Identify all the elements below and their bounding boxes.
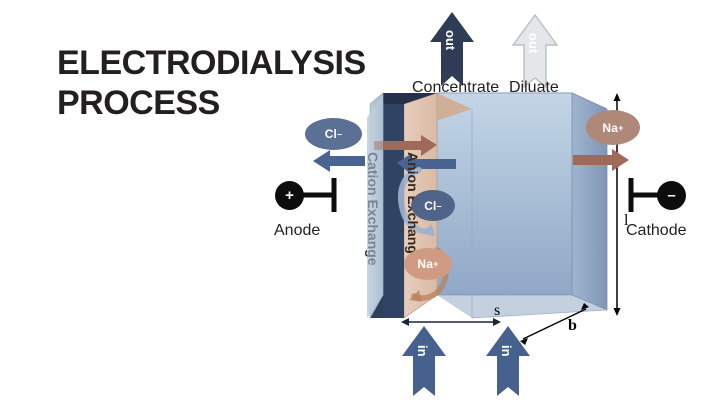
anion-migration-arrow-outer [313, 150, 365, 172]
cathode-label: Cathode [626, 222, 687, 240]
feed-left-arrow-text: in [415, 345, 430, 357]
cation-exchange-label: Cation Exchange [365, 152, 381, 266]
sodium-ion-outer-name: Na [602, 121, 618, 135]
cathode-sign: – [667, 188, 675, 203]
concentrate-arrow-text: out [443, 30, 458, 50]
sodium-ion-inner-name: Na [417, 257, 433, 271]
dimension-s [401, 318, 501, 326]
dimension-label-l: l [624, 212, 628, 230]
diluate-label: Diluate [509, 79, 559, 97]
concentrate-label: Concentrate [412, 79, 499, 97]
anode-label: Anode [274, 222, 320, 240]
anode-terminal: + [275, 181, 304, 210]
diagram-graphics [0, 0, 720, 404]
anode-sign: + [285, 188, 294, 203]
dimension-label-s: s [494, 302, 500, 320]
dimension-label-b: b [568, 317, 577, 335]
chloride-ion-inner: Cl– [411, 190, 455, 221]
diluate-arrow-text: out [526, 33, 541, 53]
feed-in-arrow-right [486, 326, 530, 396]
feed-right-arrow-text: in [499, 345, 514, 357]
chloride-ion-inner-name: Cl [424, 199, 436, 213]
sodium-ion-inner: Na+ [404, 248, 452, 280]
chloride-ion-outer: Cl– [305, 118, 362, 150]
feed-in-arrow-left [402, 326, 446, 396]
electrodialysis-diagram: ELECTRODIALYSIS PROCESS [0, 0, 720, 404]
chloride-ion-outer-name: Cl [325, 127, 337, 141]
diluate-chamber-front-face [437, 93, 572, 295]
sodium-ion-outer: Na+ [586, 110, 640, 145]
cathode-terminal: – [657, 181, 686, 210]
